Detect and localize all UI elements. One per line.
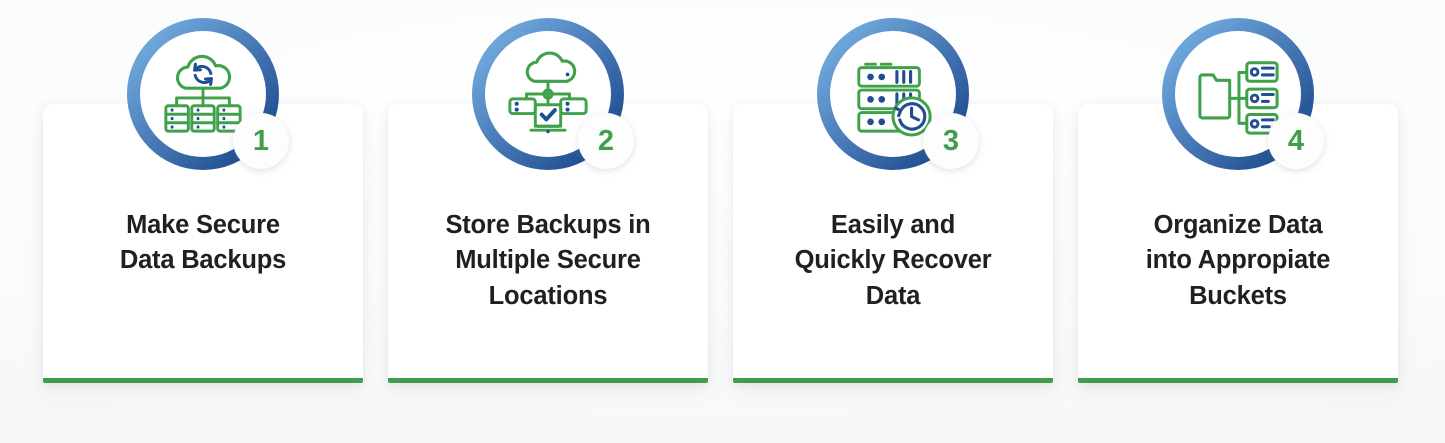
step-number-badge-4: 4 <box>1268 113 1324 169</box>
step-card-1[interactable]: Make Secure Data Backups <box>43 0 363 443</box>
cloud-network-verified-icon <box>505 51 591 137</box>
step-number-badge-1: 1 <box>233 113 289 169</box>
card-title-2: Store Backups in Multiple Secure Locatio… <box>388 208 708 314</box>
step-card-2[interactable]: Store Backups in Multiple Secure Locatio… <box>388 0 708 443</box>
step-card-4[interactable]: Organize Data into Appropiate Buckets <box>1078 0 1398 443</box>
server-stack-clock-restore-icon <box>850 51 936 137</box>
step-card-3[interactable]: Easily and Quickly Recover Data <box>733 0 1053 443</box>
card-title-4: Organize Data into Appropiate Buckets <box>1078 208 1398 314</box>
folder-buckets-icon <box>1195 51 1281 137</box>
steps-board: Make Secure Data Backups <box>0 0 1445 443</box>
step-ring-1: 1 <box>127 18 279 170</box>
step-number-badge-2: 2 <box>578 113 634 169</box>
card-accent-bar-4 <box>1078 378 1398 383</box>
step-ring-3: 3 <box>817 18 969 170</box>
card-title-3: Easily and Quickly Recover Data <box>733 208 1053 314</box>
card-accent-bar-2 <box>388 378 708 383</box>
card-accent-bar-3 <box>733 378 1053 383</box>
cloud-sync-servers-icon <box>160 51 246 137</box>
card-accent-bar-1 <box>43 378 363 383</box>
step-ring-4: 4 <box>1162 18 1314 170</box>
step-ring-2: 2 <box>472 18 624 170</box>
card-title-1: Make Secure Data Backups <box>43 208 363 279</box>
step-number-badge-3: 3 <box>923 113 979 169</box>
